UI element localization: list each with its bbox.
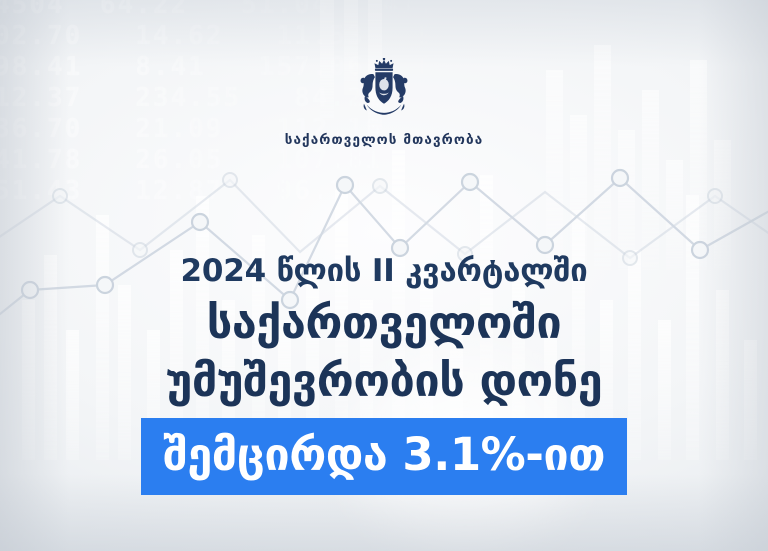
poster-canvas: 4504 64.22 51.04 47.42 18 02.70 14.62 11… (0, 0, 768, 551)
headline-highlight-wrap: შემცირდა 3.1%-ით (0, 418, 768, 495)
headline-kicker: 2024 წლის II კვარტალში (0, 248, 768, 294)
headline-line-2: უმუშევრობის დონე (0, 352, 768, 410)
government-label: საქართველოს მთავრობა (0, 132, 768, 148)
headline-block: 2024 წლის II კვარტალში საქართველოში უმუშ… (0, 248, 768, 495)
georgia-coat-of-arms-icon (355, 58, 413, 120)
poster-header: საქართველოს მთავრობა (0, 58, 768, 148)
headline-line-1: საქართველოში (0, 294, 768, 352)
headline-highlight-stat: შემცირდა 3.1%-ით (141, 418, 627, 495)
